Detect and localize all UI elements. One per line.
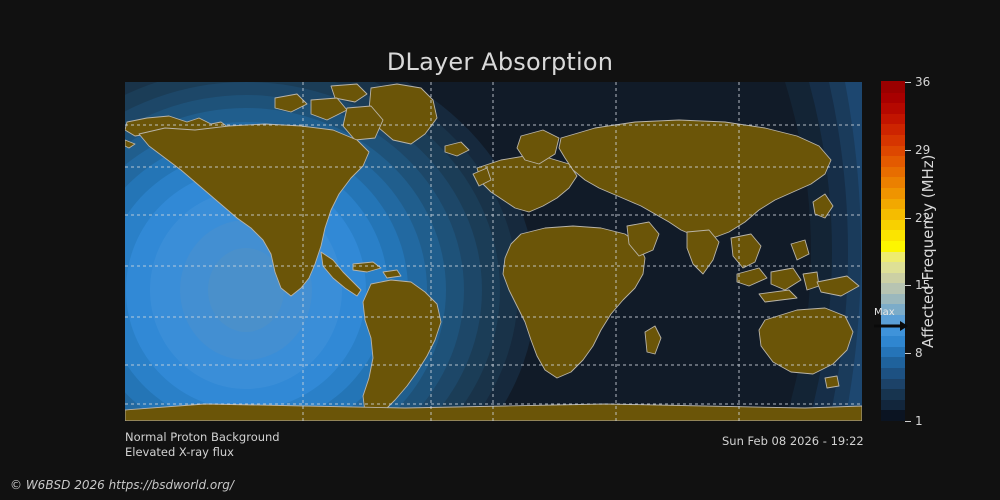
colorbar-segment (881, 357, 905, 368)
colorbar-segment (881, 230, 905, 241)
dlayer-absorption-map-window: DLayer Absorption (0, 0, 1000, 500)
colorbar-tick (905, 82, 911, 83)
colorbar-segment (881, 81, 905, 92)
colorbar-segment (881, 198, 905, 209)
colorbar-segment (881, 92, 905, 103)
colorbar-gradient (881, 82, 905, 421)
colorbar-segment (881, 134, 905, 145)
page-title: DLayer Absorption (0, 48, 1000, 76)
proton-status-label: Normal Proton Background (125, 430, 280, 444)
land-hispaniola (383, 270, 401, 278)
colorbar-segment (881, 219, 905, 230)
colorbar-tick (905, 421, 911, 422)
colorbar-title: Affected Frequency (MHz) (916, 82, 940, 421)
max-marker-label: Max (874, 308, 895, 318)
colorbar-segment (881, 209, 905, 220)
colorbar-tick (905, 353, 911, 354)
colorbar-segment (881, 124, 905, 135)
arrow-right-icon (874, 320, 908, 332)
colorbar-segment (881, 262, 905, 273)
colorbar-segment (881, 378, 905, 389)
colorbar-segment (881, 346, 905, 357)
colorbar-segment (881, 113, 905, 124)
land-tasmania (825, 376, 839, 388)
map-canvas[interactable] (125, 82, 862, 421)
world-map[interactable] (125, 82, 862, 421)
colorbar-max-marker: Max (874, 308, 908, 334)
colorbar-segment (881, 336, 905, 347)
colorbar-segment (881, 367, 905, 378)
colorbar-segment (881, 145, 905, 156)
colorbar-segment (881, 293, 905, 304)
timestamp-label: Sun Feb 08 2026 - 19:22 (722, 434, 864, 448)
colorbar-tick (905, 150, 911, 151)
colorbar-segment (881, 166, 905, 177)
colorbar-segment (881, 283, 905, 294)
colorbar-segment (881, 187, 905, 198)
colorbar-segment (881, 251, 905, 262)
colorbar-tick (905, 218, 911, 219)
xray-status-label: Elevated X-ray flux (125, 445, 234, 459)
colorbar-segment (881, 156, 905, 167)
footer-credit[interactable]: © W6BSD 2026 https://bsdworld.org/ (10, 478, 234, 492)
colorbar-segment (881, 240, 905, 251)
colorbar-segment (881, 177, 905, 188)
colorbar-segment (881, 103, 905, 114)
colorbar-segment (881, 389, 905, 400)
colorbar-segment (881, 272, 905, 283)
colorbar-segment (881, 410, 905, 421)
colorbar[interactable]: 1815222936 (881, 82, 905, 421)
colorbar-segment (881, 399, 905, 410)
colorbar-tick (905, 285, 911, 286)
